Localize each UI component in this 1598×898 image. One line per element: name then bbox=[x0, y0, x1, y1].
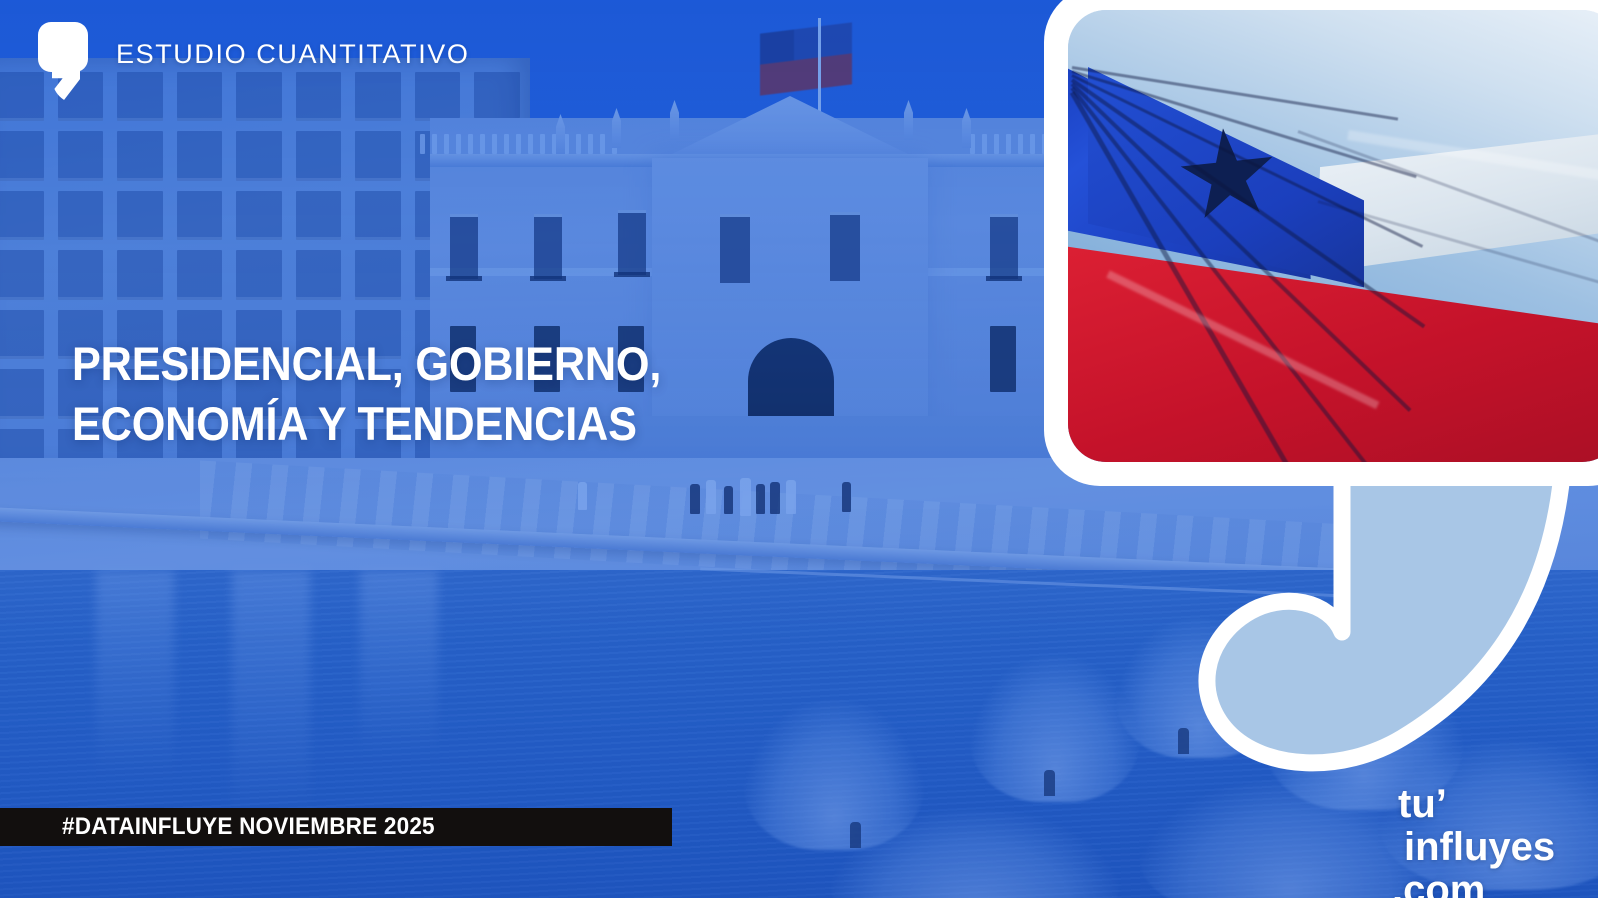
hashtag-date-label: #DATAINFLUYE NOVIEMBRE 2025 bbox=[62, 813, 435, 841]
site-logo-line-3: .com bbox=[1392, 870, 1555, 898]
page-title-line-2: ECONOMÍA Y TENDENCIAS bbox=[72, 394, 900, 454]
site-logo-line-1: tu’ bbox=[1398, 784, 1555, 824]
site-logo-line-2: influyes bbox=[1404, 827, 1555, 867]
page-title: PRESIDENCIAL, GOBIERNO, ECONOMÍA Y TENDE… bbox=[72, 334, 900, 454]
quote-mark-tail bbox=[52, 58, 80, 104]
poster-canvas: ESTUDIO CUANTITATIVO PRESIDENCIAL, GOBIE… bbox=[0, 0, 1598, 898]
hashtag-date-bar: #DATAINFLUYE NOVIEMBRE 2025 bbox=[0, 808, 672, 846]
chilean-flag-photo bbox=[1068, 10, 1598, 462]
speech-bubble bbox=[1036, 0, 1598, 786]
quote-comma-mark-icon bbox=[38, 22, 88, 104]
brand-lockup: ESTUDIO CUANTITATIVO bbox=[38, 22, 470, 104]
site-logo-tuinfluyes[interactable]: tu’ influyes .com bbox=[1392, 784, 1555, 898]
page-title-line-1: PRESIDENCIAL, GOBIERNO, bbox=[72, 334, 900, 394]
study-kicker-label: ESTUDIO CUANTITATIVO bbox=[116, 39, 470, 70]
